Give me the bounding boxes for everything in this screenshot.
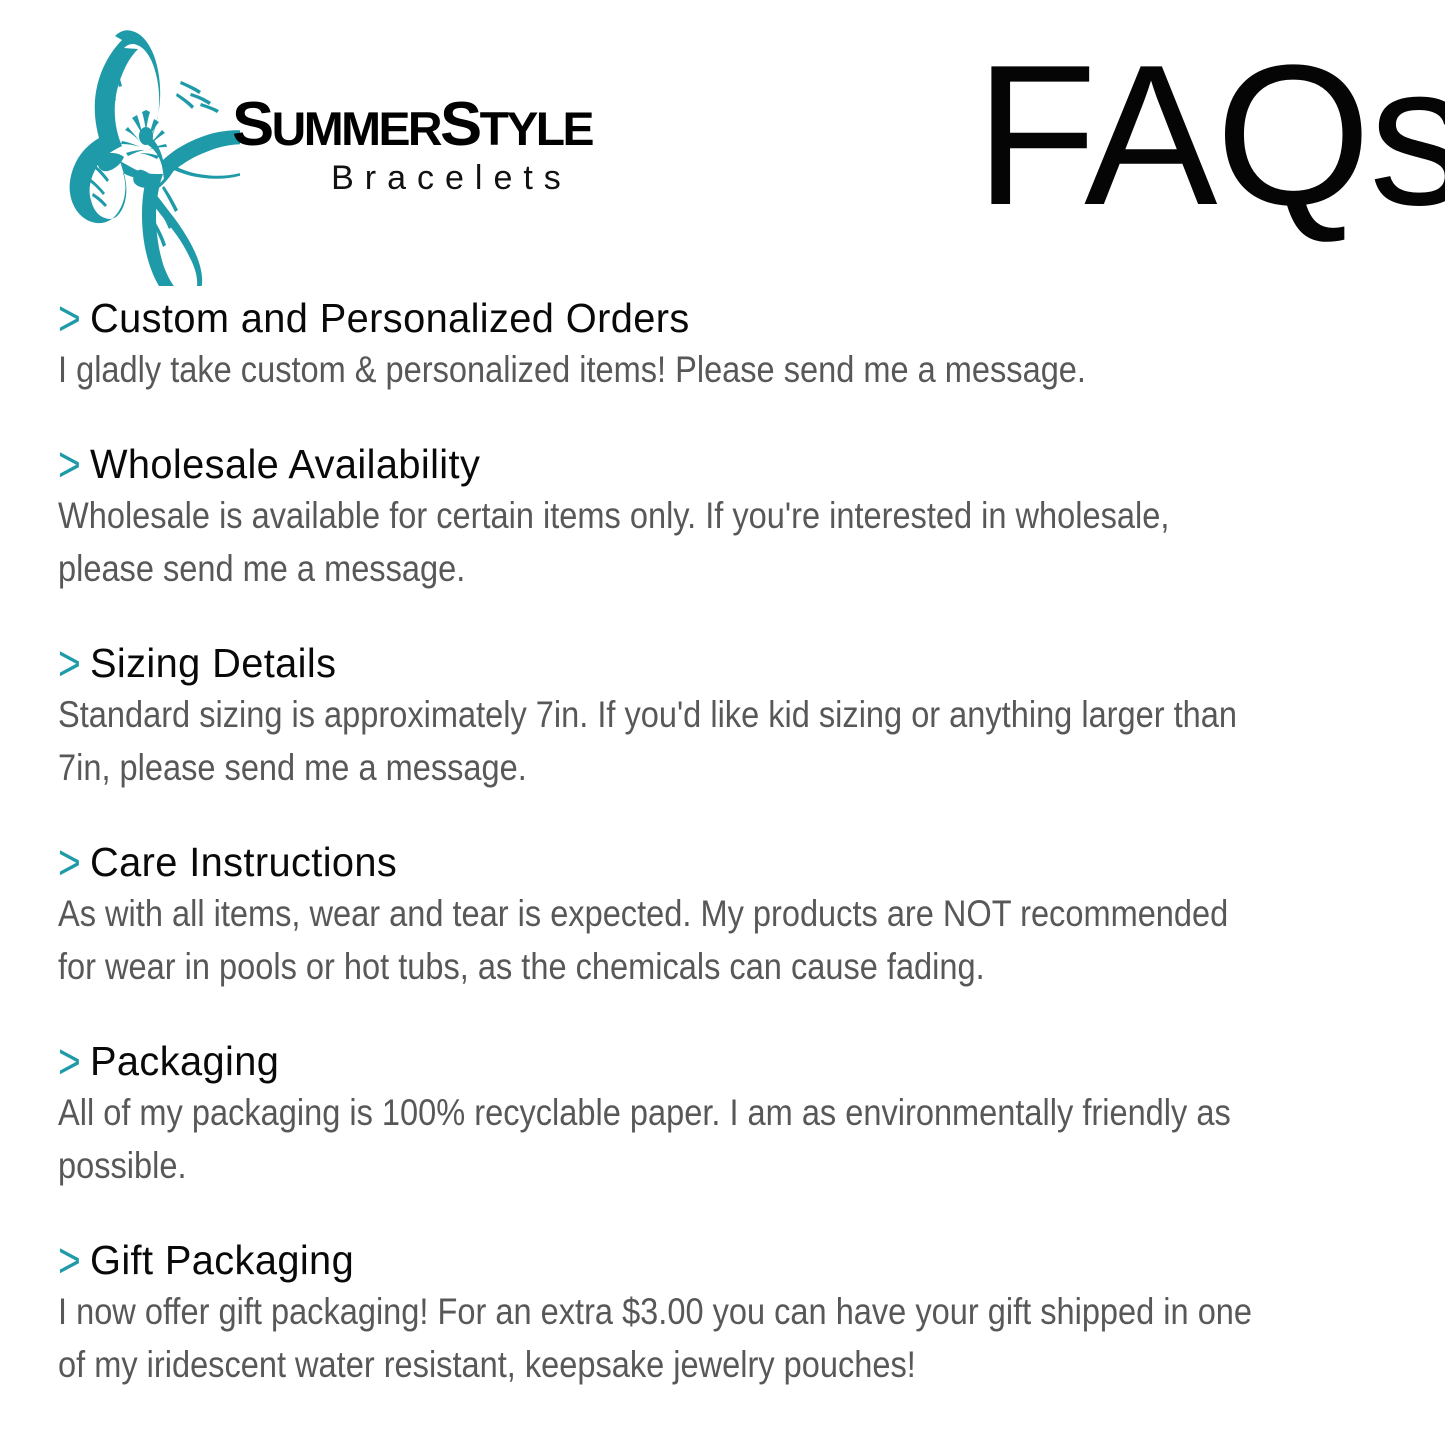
faq-item-packaging: > Packaging All of my packaging is 100% … bbox=[58, 1039, 1273, 1192]
faq-heading-label: Gift Packaging bbox=[90, 1238, 354, 1284]
faq-body-text: Wholesale is available for certain items… bbox=[58, 490, 1266, 595]
chevron-right-icon: > bbox=[58, 442, 81, 491]
faq-item-care-instructions: > Care Instructions As with all items, w… bbox=[58, 840, 1273, 993]
faq-item-gift-packaging: > Gift Packaging I now offer gift packag… bbox=[58, 1238, 1273, 1391]
faq-body-text: I now offer gift packaging! For an extra… bbox=[58, 1286, 1266, 1391]
faq-heading-row: > Care Instructions bbox=[58, 840, 1273, 886]
faq-body-text: I gladly take custom & personalized item… bbox=[58, 344, 1266, 397]
page-header: SUMMERSTYLE Bracelets FAQs bbox=[0, 0, 1445, 290]
chevron-right-icon: > bbox=[58, 1038, 81, 1087]
faq-heading-row: > Packaging bbox=[58, 1039, 1273, 1085]
wordmark-s2: S bbox=[440, 90, 480, 159]
faq-heading-row: > Custom and Personalized Orders bbox=[58, 296, 1273, 342]
chevron-right-icon: > bbox=[58, 295, 81, 344]
faq-heading-row: > Wholesale Availability bbox=[58, 442, 1273, 488]
faq-list: > Custom and Personalized Orders I gladl… bbox=[58, 296, 1273, 1391]
chevron-right-icon: > bbox=[58, 641, 81, 690]
brand-wordmark: SUMMERSTYLE bbox=[232, 96, 592, 153]
starfish-icon bbox=[58, 18, 240, 286]
faq-heading-row: > Sizing Details bbox=[58, 641, 1273, 687]
faq-item-wholesale-availability: > Wholesale Availability Wholesale is av… bbox=[58, 442, 1273, 595]
faq-item-custom-orders: > Custom and Personalized Orders I gladl… bbox=[58, 296, 1273, 396]
brand-logo-lockup: SUMMERSTYLE Bracelets bbox=[58, 18, 585, 286]
wordmark-ummer: UMMER bbox=[272, 102, 440, 155]
faq-item-sizing-details: > Sizing Details Standard sizing is appr… bbox=[58, 641, 1273, 794]
faq-heading-label: Sizing Details bbox=[90, 641, 336, 687]
faq-heading-row: > Gift Packaging bbox=[58, 1238, 1273, 1284]
chevron-right-icon: > bbox=[58, 840, 81, 889]
faq-heading-label: Packaging bbox=[90, 1039, 279, 1085]
faq-body-text: All of my packaging is 100% recyclable p… bbox=[58, 1087, 1266, 1192]
faq-body-text: As with all items, wear and tear is expe… bbox=[58, 888, 1266, 993]
wordmark-tyle: TYLE bbox=[480, 102, 592, 155]
faq-heading-label: Custom and Personalized Orders bbox=[90, 296, 690, 342]
faq-heading-label: Wholesale Availability bbox=[90, 442, 480, 488]
brand-wordmark-group: SUMMERSTYLE Bracelets bbox=[232, 96, 585, 198]
wordmark-s1: S bbox=[232, 90, 272, 159]
chevron-right-icon: > bbox=[58, 1237, 81, 1286]
page-title: FAQs bbox=[975, 36, 1445, 236]
brand-subtitle: Bracelets bbox=[232, 159, 585, 198]
faq-body-text: Standard sizing is approximately 7in. If… bbox=[58, 689, 1266, 794]
faq-heading-label: Care Instructions bbox=[90, 840, 397, 886]
